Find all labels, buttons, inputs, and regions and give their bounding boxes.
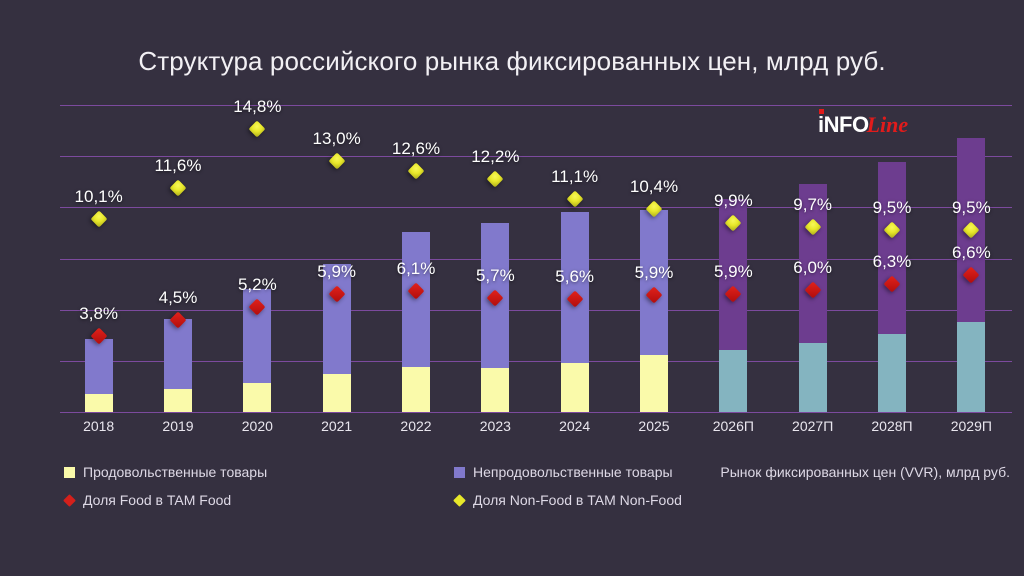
value-label-share-food: 5,9% [317,262,356,282]
value-label-share-nonfood: 10,1% [75,187,123,207]
value-label-share-food: 5,9% [714,262,753,282]
bar-segment-food[interactable] [957,322,985,412]
bar-segment-food[interactable] [402,367,430,412]
legend-label-share-food: Доля Food в TAM Food [83,492,231,508]
bar-segment-food[interactable] [323,374,351,412]
value-label-share-food: 5,7% [476,266,515,286]
bar-segment-food[interactable] [85,394,113,412]
bar-group[interactable] [243,105,271,412]
chart-root: Структура российского рынка фиксированны… [0,0,1024,576]
page-title: Структура российского рынка фиксированны… [0,46,1024,77]
gridline [60,412,1012,413]
bar-segment-food[interactable] [878,334,906,412]
x-axis-tick: 2024 [559,418,590,434]
bar-segment-food[interactable] [481,368,509,412]
value-label-share-food: 6,0% [793,258,832,278]
yellow-diamond-icon [453,494,466,507]
legend-item-nonfood[interactable]: Непродовольственные товары [454,464,673,480]
x-axis-tick: 2019 [162,418,193,434]
x-axis: 201820192020202120222023202420252026П202… [60,418,1012,442]
x-axis-tick: 2027П [792,418,833,434]
x-axis-tick: 2018 [83,418,114,434]
legend-item-share-nonfood[interactable]: Доля Non-Food в TAM Non-Food [454,492,682,508]
value-label-share-nonfood: 11,1% [551,167,598,187]
value-label-share-nonfood: 13,0% [313,129,361,149]
legend-row-bars: Продовольственные товары Непродовольстве… [64,464,704,492]
bar-segment-food[interactable] [561,363,589,412]
bar-segment-nonfood[interactable] [85,339,113,394]
bar-segment-nonfood[interactable] [164,319,192,389]
x-axis-tick: 2023 [480,418,511,434]
x-axis-tick: 2025 [638,418,669,434]
value-label-share-nonfood: 10,4% [630,177,678,197]
value-label-share-nonfood: 9,9% [714,191,753,211]
bar-segment-food[interactable] [164,389,192,412]
value-label-share-food: 5,9% [635,263,674,283]
gridline [60,105,1012,106]
value-label-share-food: 6,6% [952,243,991,263]
gridline [60,361,1012,362]
plot-area: 01002003004005006003,8%10,1%4,5%11,6%5,2… [60,105,1012,412]
gridline [60,207,1012,208]
value-label-share-nonfood: 12,2% [471,147,519,167]
food-swatch-icon [64,467,75,478]
bar-group[interactable] [164,105,192,412]
bar-group[interactable] [719,105,747,412]
value-label-share-food: 6,3% [873,252,912,272]
x-axis-tick: 2029П [951,418,992,434]
legend-item-share-food[interactable]: Доля Food в TAM Food [64,492,231,508]
x-axis-tick: 2021 [321,418,352,434]
legend-label-share-nonfood: Доля Non-Food в TAM Non-Food [473,492,682,508]
bar-segment-food[interactable] [719,350,747,412]
bar-group[interactable] [323,105,351,412]
bar-segment-food[interactable] [640,355,668,412]
value-label-share-nonfood: 14,8% [233,97,281,117]
value-label-share-food: 5,2% [238,275,277,295]
legend-label-nonfood: Непродовольственные товары [473,464,673,480]
value-label-share-nonfood: 9,5% [952,198,991,218]
bar-group[interactable] [640,105,668,412]
value-label-share-food: 3,8% [79,304,118,324]
legend-row-markers: Доля Food в TAM Food Доля Non-Food в TAM… [64,492,704,520]
bar-group[interactable] [85,105,113,412]
gridline [60,310,1012,311]
value-label-share-nonfood: 9,7% [793,195,832,215]
bar-segment-nonfood[interactable] [402,232,430,367]
red-diamond-icon [63,494,76,507]
bar-segment-food[interactable] [243,383,271,412]
value-label-share-nonfood: 11,6% [155,156,202,176]
x-axis-tick: 2022 [400,418,431,434]
chart-footnote: Рынок фиксированных цен (VVR), млрд руб. [720,464,1010,480]
value-label-share-food: 6,1% [397,259,436,279]
gridline [60,259,1012,260]
bar-segment-nonfood[interactable] [561,212,589,363]
x-axis-tick: 2026П [713,418,754,434]
nonfood-swatch-icon [454,467,465,478]
chart-legend: Продовольственные товары Непродовольстве… [64,464,704,520]
x-axis-tick: 2028П [871,418,912,434]
value-label-share-food: 4,5% [159,288,198,308]
value-label-share-food: 5,6% [555,267,594,287]
legend-item-food[interactable]: Продовольственные товары [64,464,267,480]
value-label-share-nonfood: 12,6% [392,139,440,159]
gridline [60,156,1012,157]
bar-segment-food[interactable] [799,343,827,412]
bar-segment-nonfood[interactable] [878,162,906,333]
value-label-share-nonfood: 9,5% [873,198,912,218]
bar-group[interactable] [561,105,589,412]
legend-label-food: Продовольственные товары [83,464,267,480]
x-axis-tick: 2020 [242,418,273,434]
